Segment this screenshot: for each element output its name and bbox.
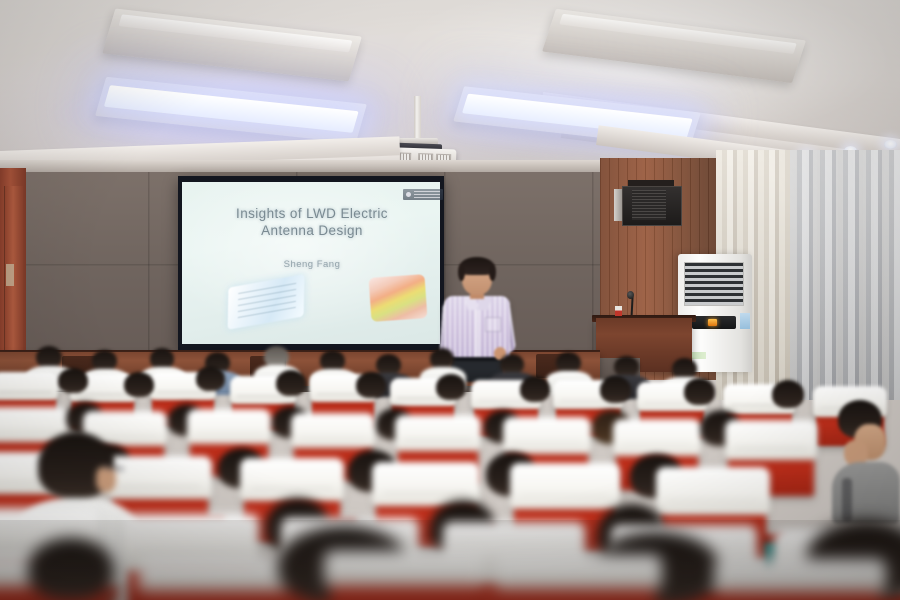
attendee-head [500, 354, 524, 374]
slide-title-line1: Insights of LWD Electric [196, 205, 428, 222]
attendee-head [196, 366, 225, 391]
attendee-head [36, 346, 62, 368]
attendee-head [430, 348, 454, 369]
attendee-head [320, 350, 345, 371]
attendee-head [436, 374, 466, 400]
air-conditioner-power-indicator [708, 319, 717, 326]
attendee-head [556, 352, 581, 373]
slide-author: Sheng Fang [196, 259, 428, 270]
air-conditioner-energy-label [740, 313, 750, 329]
door-plate [6, 264, 14, 286]
attendee-head [264, 346, 289, 367]
attendee-bag-strap [842, 478, 852, 522]
gooseneck-microphone [627, 291, 634, 299]
attendee-head [614, 356, 639, 377]
attendee-resting-chin-on-hand [826, 400, 900, 530]
attendee-head [356, 372, 386, 398]
air-conditioner-louvers [684, 262, 744, 306]
attendee-head [672, 358, 697, 379]
attendee-head [600, 376, 631, 403]
attendee-head [124, 372, 154, 397]
attendee-head [58, 368, 88, 393]
downlight-7 [884, 140, 897, 149]
university-logo-text [414, 191, 440, 198]
attendee-head [150, 348, 174, 369]
lecture-hall-photo: Insights of LWD Electric Antenna Design … [0, 0, 900, 600]
presenter-glasses-icon [463, 274, 491, 280]
speaker-grille-icon [632, 190, 666, 220]
attendee-head [772, 380, 804, 408]
attendee-head [520, 376, 550, 402]
slide-title: Insights of LWD Electric Antenna Design [196, 205, 428, 239]
attendee-head [92, 350, 117, 371]
attendee-head [376, 354, 401, 375]
presenter-shirt-pocket [485, 317, 501, 332]
slide-figure-field-heatmap [369, 274, 428, 322]
university-logo-emblem-icon [406, 192, 411, 197]
foreground-shadow [0, 520, 900, 600]
podium-desk-item [615, 306, 622, 316]
attendee-head [684, 378, 715, 405]
projector-ceiling-mount [414, 96, 421, 142]
attendee-head [276, 370, 306, 396]
slide-title-line2: Antenna Design [196, 222, 428, 239]
wall-upper-trim [0, 160, 640, 172]
